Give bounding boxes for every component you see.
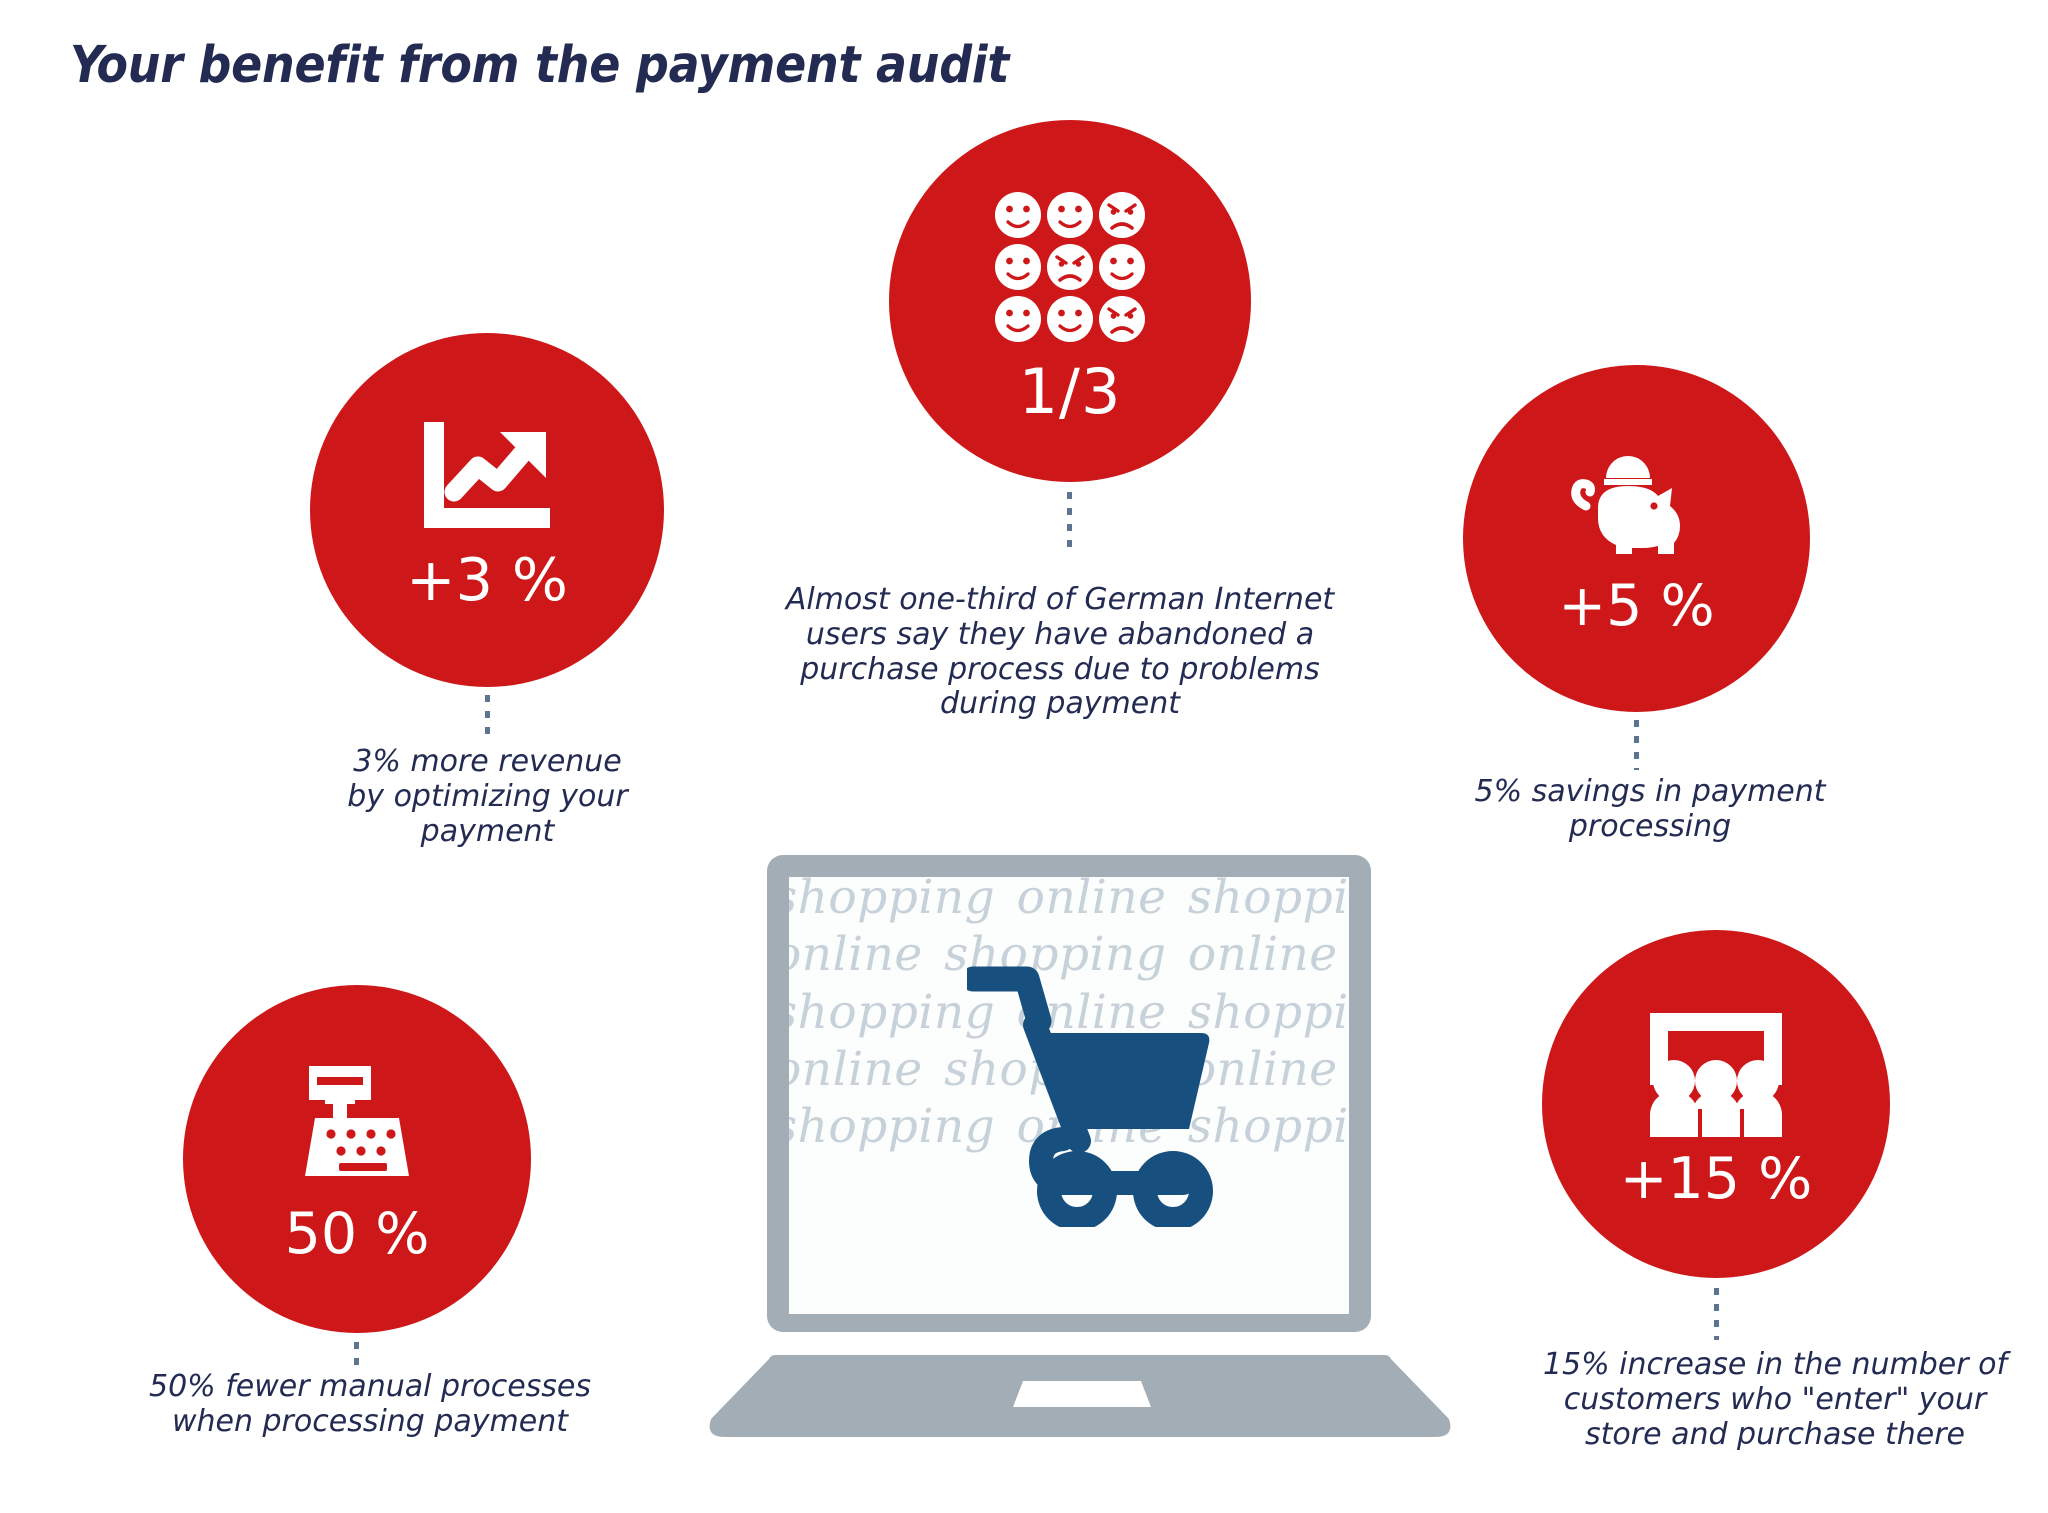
caption-abandon: Almost one-third of German Internet user… [745, 583, 1375, 722]
growth-chart-icon [418, 420, 556, 536]
piggy-bank-icon [1562, 448, 1712, 564]
page-title: Your benefit from the payment audit [70, 36, 1009, 95]
connector-line-manual [354, 1342, 359, 1372]
caption-conversion: 15% increase in the number of customers … [1495, 1348, 2048, 1452]
caption-savings: 5% savings in payment processing [1440, 775, 1860, 845]
storefront-people-icon [1640, 1009, 1792, 1137]
caption-revenue: 3% more revenue by optimizing your payme… [300, 745, 675, 849]
faces-grid-icon [992, 189, 1148, 345]
laptop-lid: shopping online shopping online shopping… [767, 855, 1371, 1332]
caption-manual: 50% fewer manual processes when processi… [110, 1370, 630, 1440]
stat-bubble-revenue[interactable]: +3 % [310, 333, 664, 687]
laptop-illustration: shopping online shopping online shopping… [705, 855, 1455, 1465]
stat-bubble-savings[interactable]: +5 % [1463, 365, 1810, 712]
stat-value-abandon: 1/3 [1019, 361, 1122, 423]
laptop-screen: shopping online shopping online shopping… [789, 877, 1349, 1314]
connector-line-savings [1634, 720, 1639, 770]
connector-line-abandon [1067, 492, 1072, 554]
stat-value-conversion: +15 % [1620, 1151, 1813, 1208]
stat-bubble-manual[interactable]: 50 % [183, 985, 531, 1333]
stat-bubble-conversion[interactable]: +15 % [1542, 930, 1890, 1278]
connector-line-revenue [485, 695, 490, 743]
connector-line-conversion [1714, 1288, 1719, 1340]
shopping-cart-icon [967, 965, 1232, 1227]
infographic-canvas: Your benefit from the payment audit +3 % [0, 0, 2048, 1513]
stat-bubble-abandon[interactable]: 1/3 [889, 120, 1251, 482]
stat-value-manual: 50 % [285, 1206, 430, 1263]
cash-register-icon [293, 1064, 421, 1190]
stat-value-revenue: +3 % [406, 550, 568, 609]
laptop-base [705, 1353, 1455, 1439]
stat-value-savings: +5 % [1558, 578, 1714, 635]
